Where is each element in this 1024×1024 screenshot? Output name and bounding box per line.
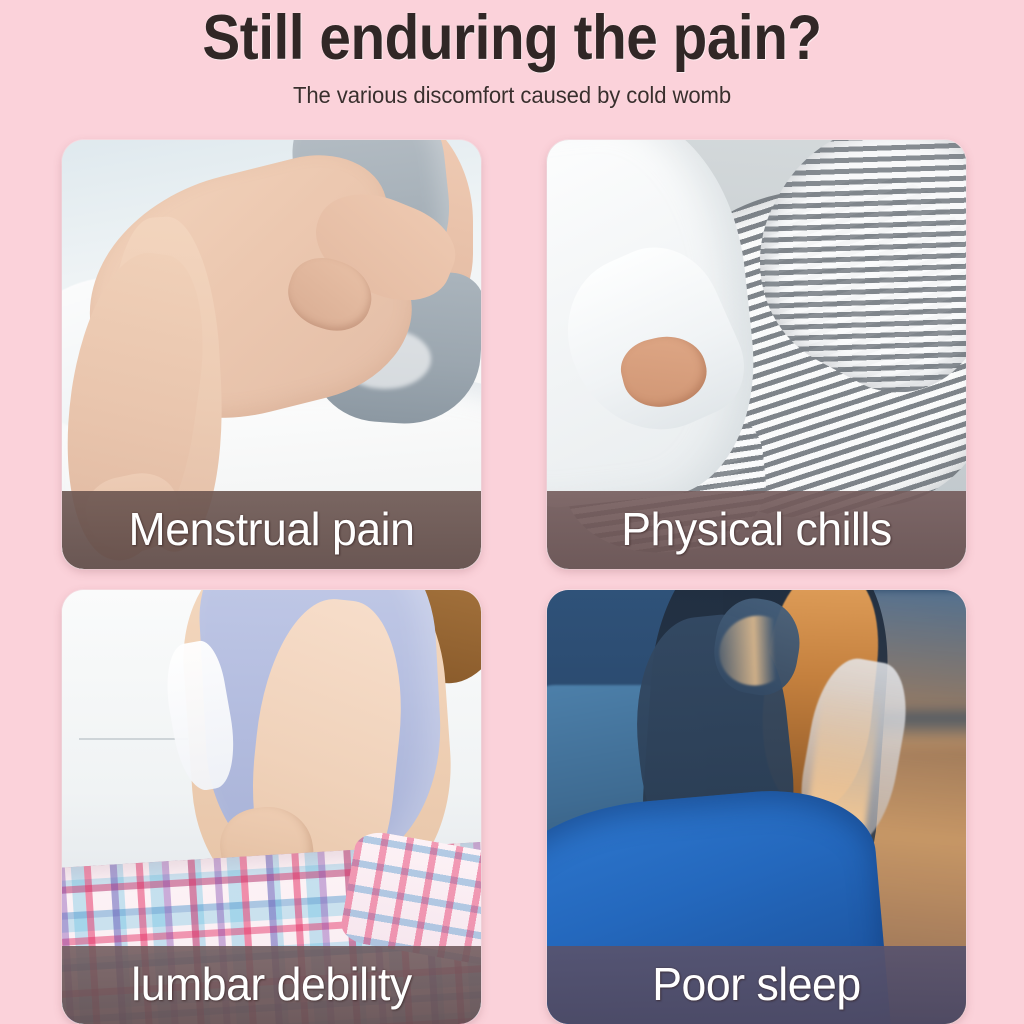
symptom-card-grid: Menstrual pain Physical chills	[62, 140, 966, 1024]
caption-bar-physical-chills: Physical chills	[547, 491, 966, 569]
caption-label: Menstrual pain	[68, 506, 474, 555]
caption-bar-lumbar-debility: lumbar debility	[62, 946, 481, 1024]
card-physical-chills[interactable]: Physical chills	[547, 140, 966, 569]
page-subtitle: The various discomfort caused by cold wo…	[31, 82, 994, 109]
caption-label: Physical chills	[553, 506, 959, 555]
card-lumbar-debility[interactable]: lumbar debility	[62, 590, 481, 1024]
caption-bar-menstrual-pain: Menstrual pain	[62, 491, 481, 569]
card-menstrual-pain[interactable]: Menstrual pain	[62, 140, 481, 569]
page-header: Still enduring the pain? The various dis…	[0, 0, 1024, 109]
card-poor-sleep[interactable]: Poor sleep	[547, 590, 966, 1024]
caption-bar-poor-sleep: Poor sleep	[547, 946, 966, 1024]
caption-label: lumbar debility	[68, 961, 474, 1010]
page-title: Still enduring the pain?	[51, 4, 973, 72]
caption-label: Poor sleep	[553, 961, 959, 1010]
wall-seam	[79, 738, 188, 740]
